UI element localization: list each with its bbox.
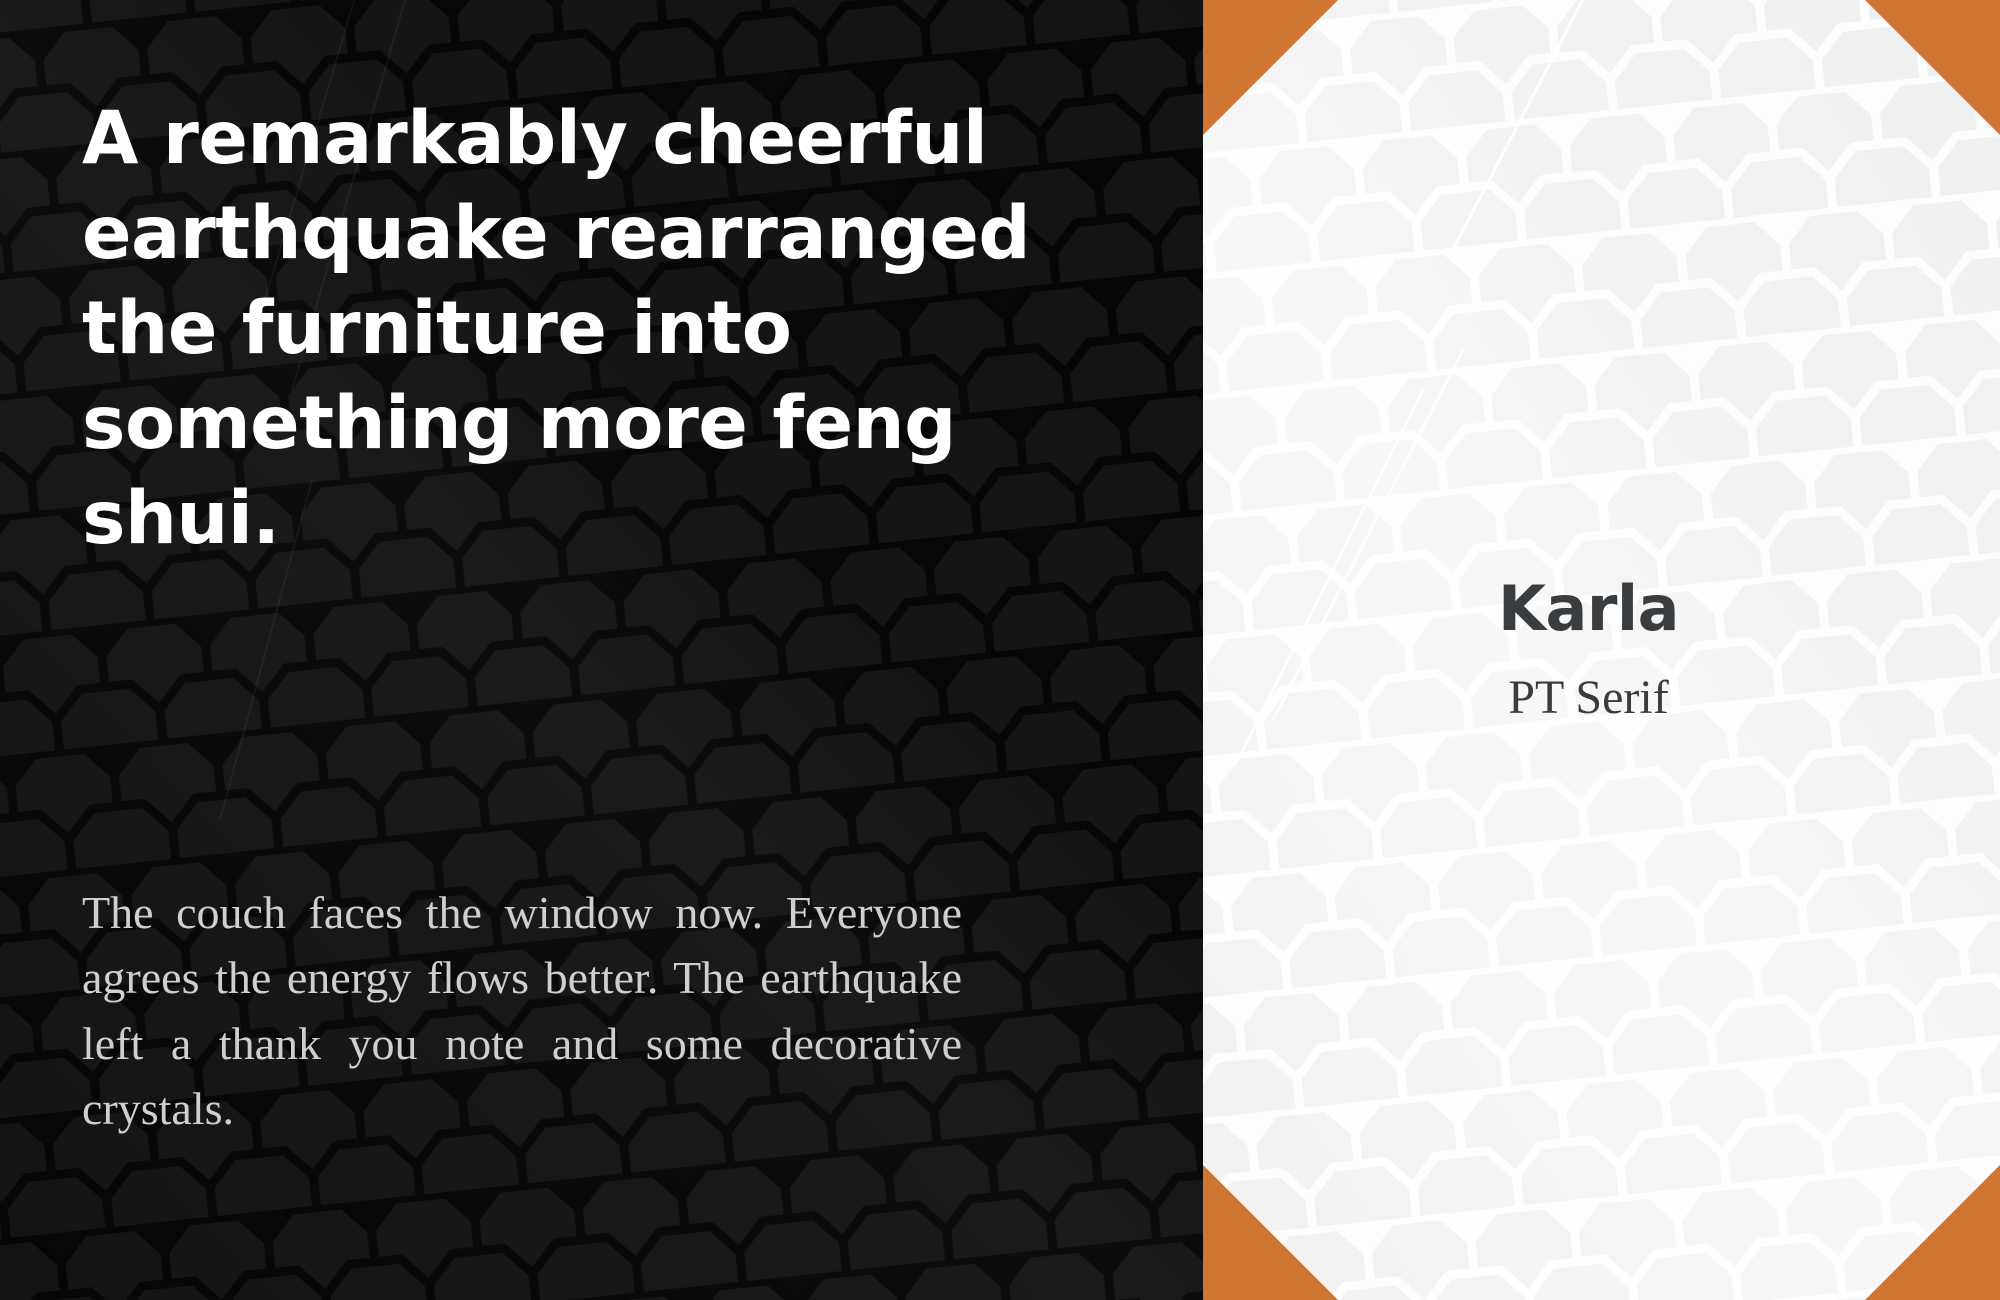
corner-accent-bottom-left-icon (1203, 1165, 1338, 1300)
font-pair-label-group: Karla PT Serif (1203, 0, 2000, 1300)
corner-accent-top-right-icon (1865, 0, 2000, 135)
dark-specimen-panel: A remarkably cheerful earthquake rearran… (0, 0, 1203, 1300)
body-font-name: PT Serif (1508, 674, 1668, 722)
left-text-block: A remarkably cheerful earthquake rearran… (82, 0, 1092, 1300)
font-name-panel: Karla PT Serif (1203, 0, 2000, 1300)
specimen-body-text: The couch faces the window now. Everyone… (82, 880, 962, 1141)
corner-accent-bottom-right-icon (1865, 1165, 2000, 1300)
font-pairing-poster: A remarkably cheerful earthquake rearran… (0, 0, 2000, 1300)
corner-accent-top-left-icon (1203, 0, 1338, 135)
specimen-headline: A remarkably cheerful earthquake rearran… (82, 92, 1042, 566)
heading-font-name: Karla (1498, 578, 1679, 640)
